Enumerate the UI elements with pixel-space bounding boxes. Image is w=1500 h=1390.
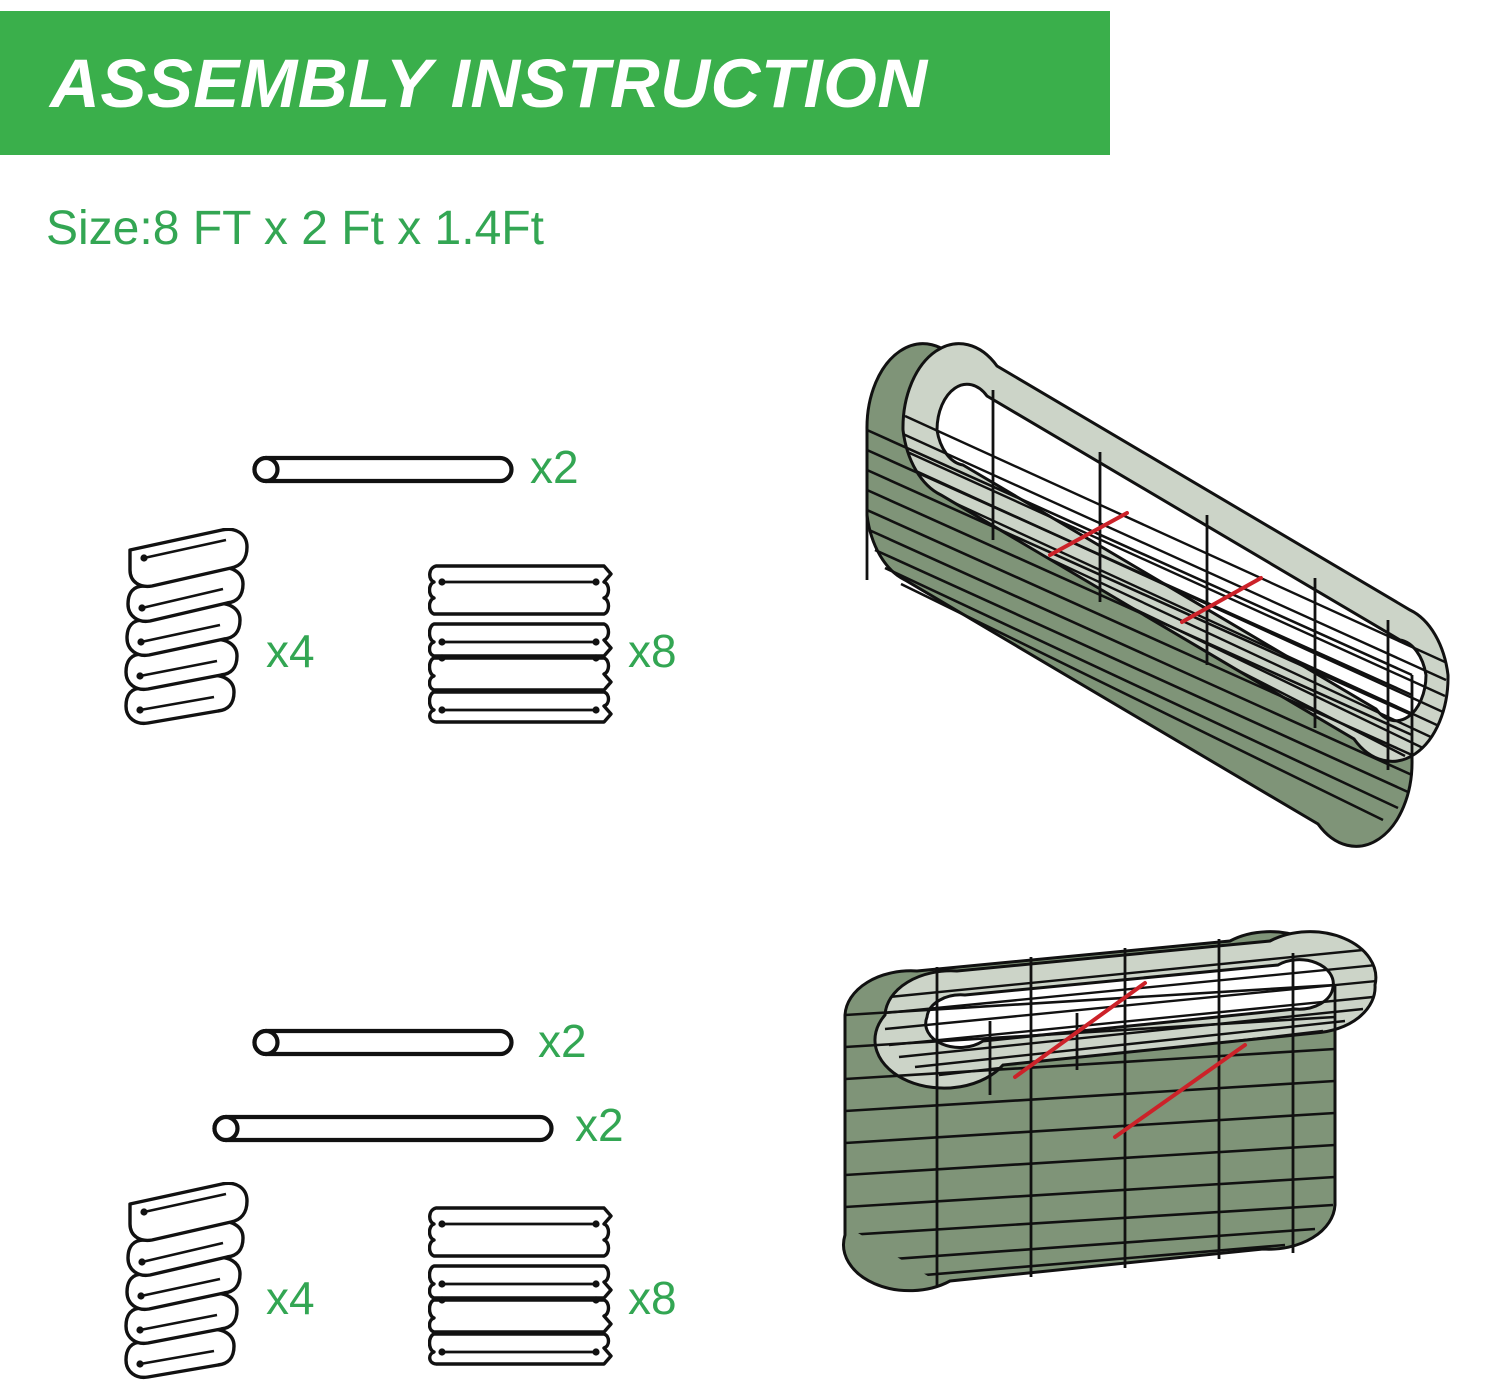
header-banner: ASSEMBLY INSTRUCTION: [0, 11, 1110, 155]
part-item-support-rod-short: [250, 448, 515, 494]
qty-label-corner-panel-curved-2: x4: [266, 1275, 315, 1321]
qty-label-support-rod-short: x2: [530, 444, 579, 490]
straight-panel-stack-icon: [428, 1202, 618, 1370]
product-size-text: Size:8 FT x 2 Ft x 1.4Ft: [46, 205, 544, 253]
curved-panel-stack-icon: [118, 528, 258, 728]
qty-label-support-rod-long: x2: [575, 1102, 624, 1148]
part-item-support-rod-short-2: [250, 1021, 515, 1067]
qty-label-support-rod-short-2: x2: [538, 1018, 587, 1064]
oval-raised-garden-bed-tall-isometric: [815, 905, 1500, 1385]
curved-panel-stack-icon: [118, 1182, 258, 1382]
part-item-side-panel-straight: [428, 560, 618, 728]
part-item-corner-panel-curved-2: [118, 1182, 258, 1382]
part-item-support-rod-long: [210, 1107, 555, 1153]
qty-label-side-panel-straight: x8: [628, 628, 677, 674]
rod-icon: [210, 1107, 555, 1153]
part-item-side-panel-straight-2: [428, 1202, 618, 1370]
illustration-assembled-bed-low: [845, 330, 1500, 890]
straight-panel-stack-icon: [428, 560, 618, 728]
page-title: ASSEMBLY INSTRUCTION: [0, 49, 928, 118]
qty-label-side-panel-straight-2: x8: [628, 1275, 677, 1321]
illustration-assembled-bed-tall: [815, 905, 1500, 1385]
oval-raised-garden-bed-low-isometric: [845, 330, 1500, 890]
rod-icon: [250, 448, 515, 494]
parts-list-bottom: x2 x2: [0, 990, 760, 1389]
rod-icon: [250, 1021, 515, 1067]
parts-list-top: x2: [0, 400, 760, 800]
qty-label-corner-panel-curved: x4: [266, 628, 315, 674]
part-item-corner-panel-curved: [118, 528, 258, 728]
